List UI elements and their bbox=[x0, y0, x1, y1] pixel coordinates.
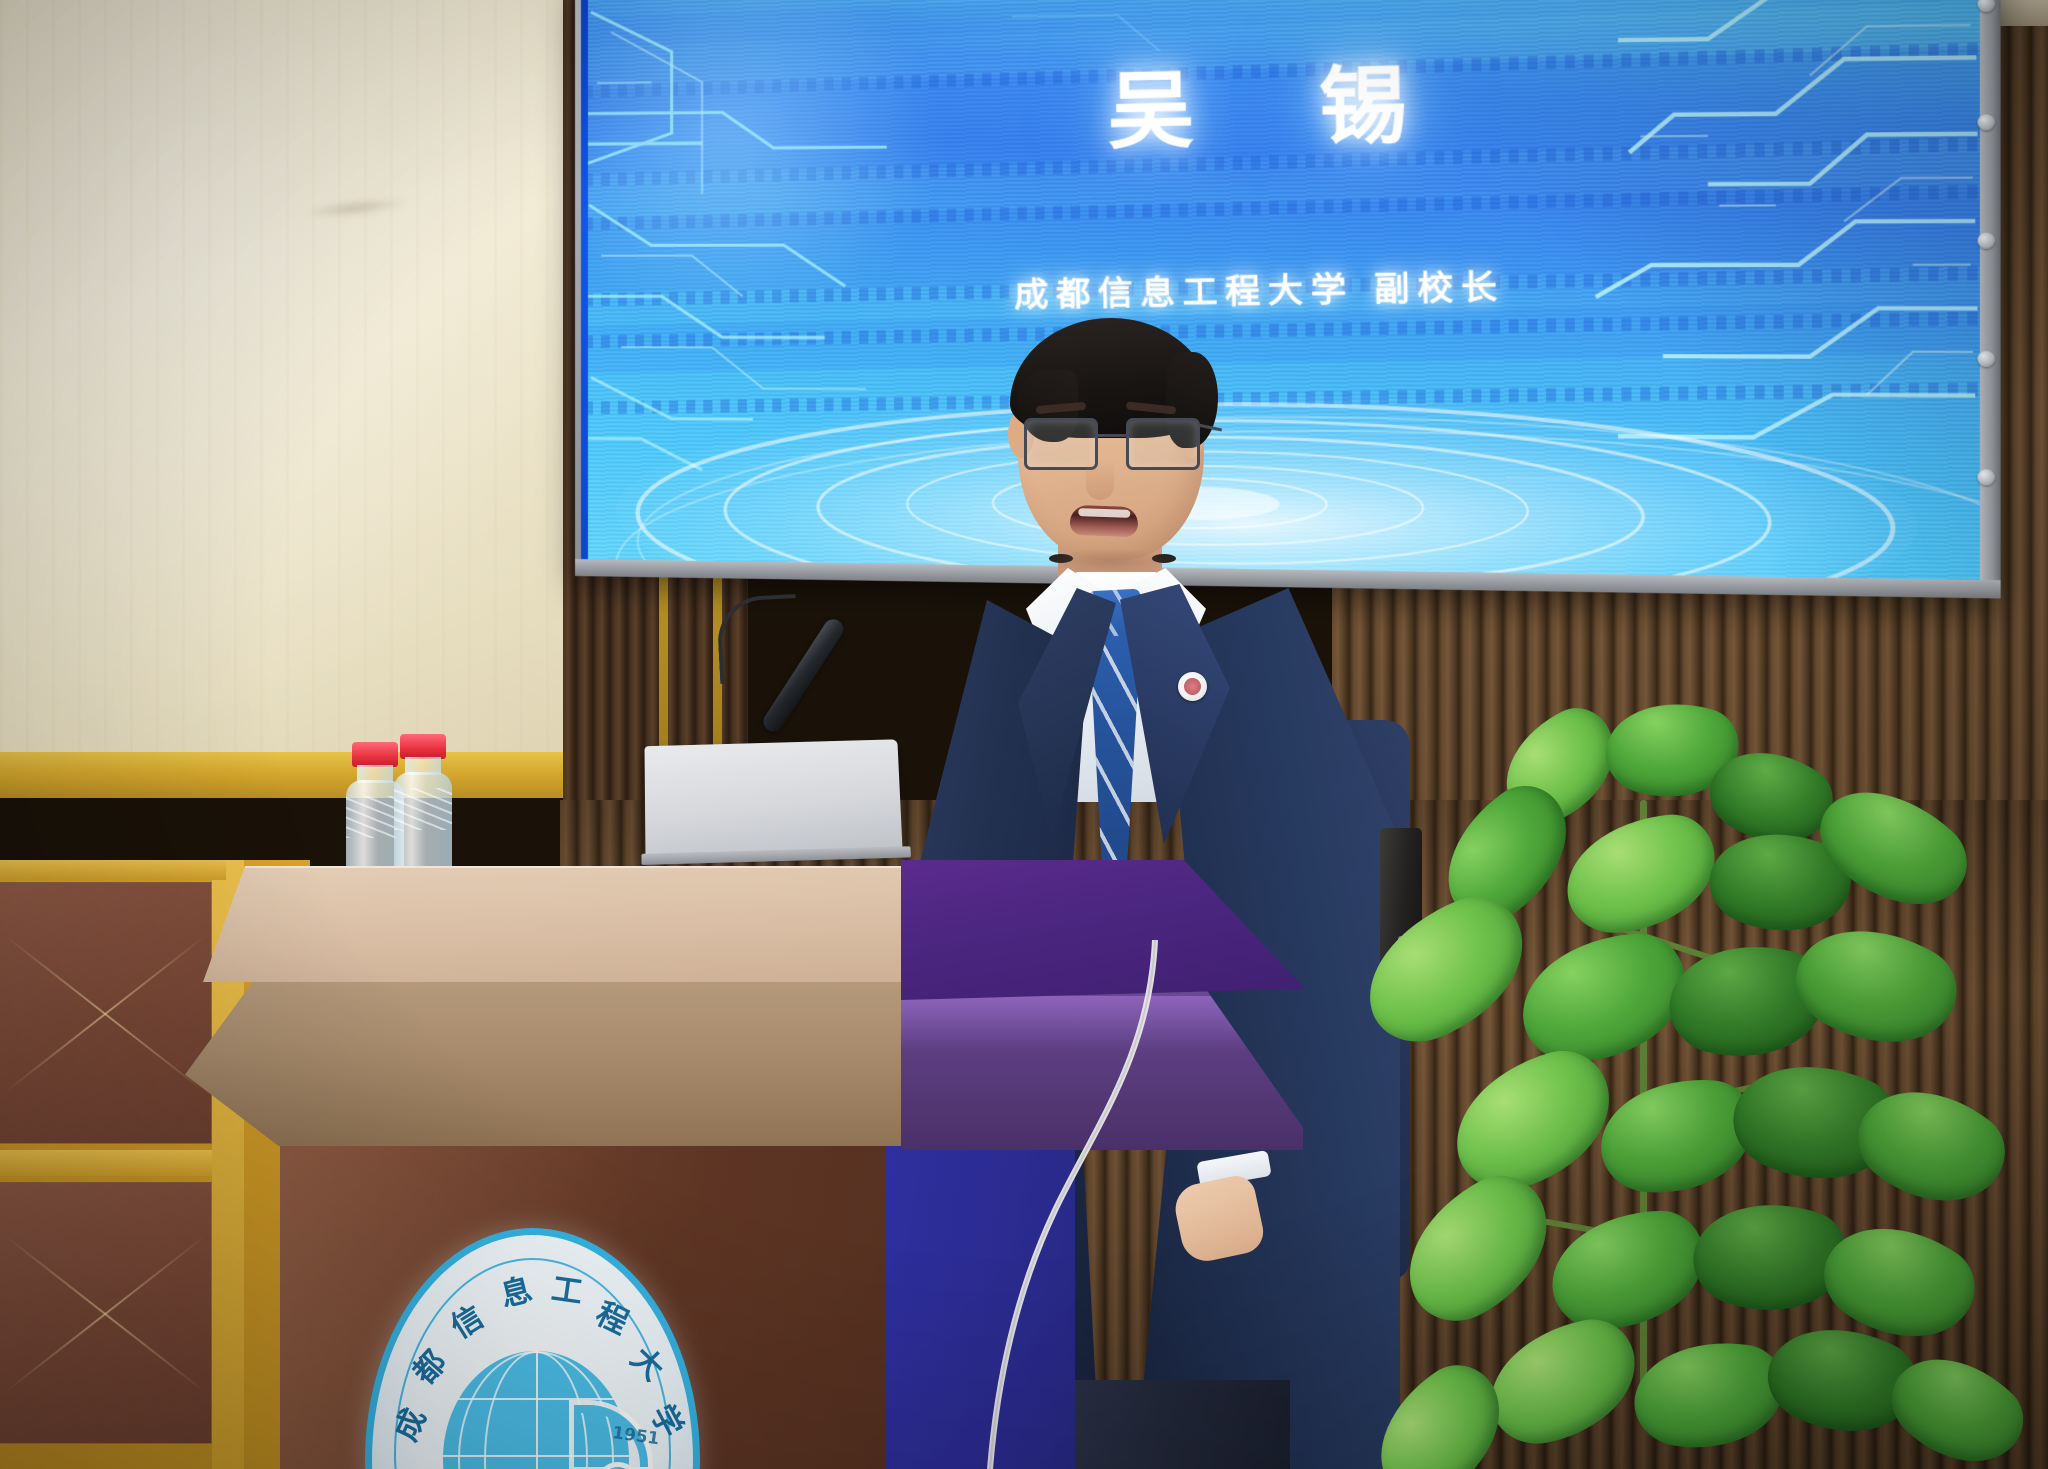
speaker-mouth bbox=[1069, 505, 1138, 537]
glasses-lens bbox=[1126, 418, 1200, 470]
globe-parallel bbox=[443, 1398, 629, 1400]
emblem-char: 都 bbox=[400, 1339, 454, 1392]
speaker-teeth bbox=[1078, 508, 1130, 518]
emblem-char: 工 bbox=[549, 1263, 586, 1312]
plant-leaf bbox=[1518, 930, 1690, 1065]
plant-leaf bbox=[1629, 1330, 1789, 1459]
podium-top-surface-left bbox=[203, 866, 903, 982]
university-emblem: 成 都 信 息 工 程 大 学 1951 CUIT bbox=[365, 1228, 700, 1469]
plant-leaf bbox=[1478, 1312, 1648, 1453]
wood-grain-knot bbox=[299, 194, 410, 221]
screen-left-edge-glow bbox=[581, 0, 588, 560]
emblem-seal-mark: 1951 bbox=[605, 1424, 675, 1469]
emblem-char: 程 bbox=[590, 1288, 638, 1342]
x-pattern-tile bbox=[0, 882, 212, 1144]
emblem-char: 成 bbox=[381, 1400, 435, 1447]
lapel-pin-icon bbox=[1178, 672, 1207, 701]
bezel-screw bbox=[1978, 114, 1995, 130]
bottle-cap bbox=[352, 742, 398, 767]
speaker-nose bbox=[1086, 460, 1114, 500]
bezel-screw bbox=[1978, 0, 1995, 12]
podium-front-left bbox=[185, 976, 905, 1146]
emblem-char: 信 bbox=[440, 1292, 490, 1347]
emblem-char: 息 bbox=[495, 1264, 536, 1315]
screen-right-bezel bbox=[1980, 0, 2001, 599]
bezel-screw bbox=[1978, 351, 1995, 367]
cream-wall-gold-trim bbox=[0, 752, 600, 798]
glasses-bridge bbox=[1098, 434, 1128, 437]
plant-leaf bbox=[1561, 810, 1722, 937]
cream-wall-panel bbox=[0, 0, 620, 790]
plant-leaf bbox=[1598, 1073, 1756, 1199]
bezel-screw bbox=[1978, 233, 1995, 249]
power-cable bbox=[950, 940, 1210, 1469]
plant-leaf bbox=[1381, 1160, 1574, 1337]
plant-leaf bbox=[1438, 1040, 1627, 1202]
bottle-cap bbox=[400, 734, 446, 759]
potted-plant bbox=[1340, 760, 2048, 1469]
bezel-screw bbox=[1978, 469, 1995, 485]
photo-scene: 吴 锡 成都信息工程大学 副校长 bbox=[0, 0, 2048, 1469]
emblem-char: 大 bbox=[623, 1335, 677, 1389]
x-pattern-tile bbox=[0, 1182, 212, 1444]
